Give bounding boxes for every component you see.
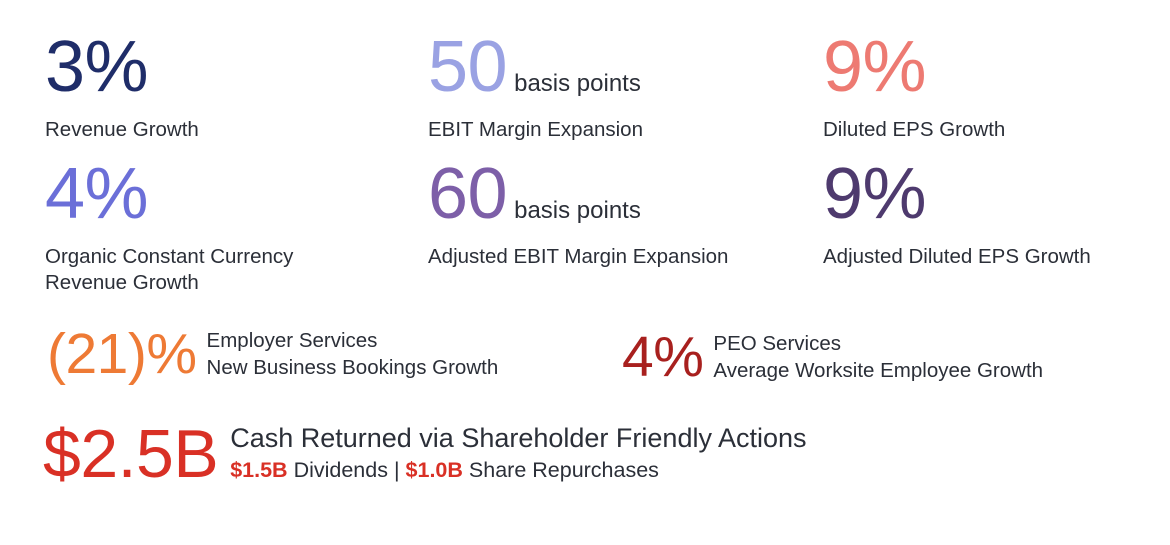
metric-value-row: 9% [823, 33, 1005, 111]
metrics-infographic: 3% Revenue Growth 50 basis points EBIT M… [0, 0, 1170, 545]
metric-label-wrap: Diluted EPS Growth [823, 117, 1005, 143]
metric-value: (21)% [47, 327, 197, 381]
metric-label-wrap: Organic Constant Currency Revenue Growth [45, 244, 293, 296]
metric-employer-services-bookings: (21)% Employer Services New Business Boo… [47, 327, 498, 382]
metric-ebit-margin-expansion: 50 basis points EBIT Margin Expansion [428, 33, 643, 143]
metric-label-line2: Revenue Growth [45, 270, 293, 296]
repurchases-amount: $1.0B [406, 458, 463, 482]
metric-label-wrap: Revenue Growth [45, 117, 199, 143]
metric-label-line1: Adjusted Diluted EPS Growth [823, 244, 1091, 270]
metric-value: 9% [823, 160, 926, 228]
metric-label-line1: Adjusted EBIT Margin Expansion [428, 244, 728, 270]
metric-value: 3% [45, 33, 148, 101]
metric-label-wrap: PEO Services Average Worksite Employee G… [713, 330, 1043, 385]
metric-unit: basis points [514, 70, 641, 98]
metric-label-line1: PEO Services [713, 330, 1043, 357]
metric-value: 4% [622, 330, 703, 384]
metric-label-line1: Diluted EPS Growth [823, 117, 1005, 143]
metric-value: 4% [45, 160, 148, 228]
metric-label-wrap: Employer Services New Business Bookings … [207, 327, 499, 382]
metric-label-line2: New Business Bookings Growth [207, 354, 499, 381]
metric-value-row: 50 basis points [428, 33, 643, 111]
metric-adjusted-ebit-margin-expansion: 60 basis points Adjusted EBIT Margin Exp… [428, 160, 728, 270]
metric-diluted-eps-growth: 9% Diluted EPS Growth [823, 33, 1005, 143]
cash-returned-label-wrap: Cash Returned via Shareholder Friendly A… [230, 423, 806, 485]
metric-revenue-growth: 3% Revenue Growth [45, 33, 199, 143]
metric-label-line1: Organic Constant Currency [45, 244, 293, 270]
dividends-amount: $1.5B [230, 458, 287, 482]
metric-value-row: 60 basis points [428, 160, 728, 238]
metric-label-line2: Average Worksite Employee Growth [713, 357, 1043, 384]
metric-label-line1: EBIT Margin Expansion [428, 117, 643, 143]
metric-cash-returned: $2.5B Cash Returned via Shareholder Frie… [43, 422, 807, 487]
metric-value: 9% [823, 33, 926, 101]
metric-label-wrap: EBIT Margin Expansion [428, 117, 643, 143]
metric-value-row: 9% [823, 160, 1091, 238]
metric-label-wrap: Adjusted Diluted EPS Growth [823, 244, 1091, 270]
dividends-label: Dividends [294, 458, 388, 482]
repurchases-label: Share Repurchases [469, 458, 659, 482]
metric-adjusted-diluted-eps-growth: 9% Adjusted Diluted EPS Growth [823, 160, 1091, 270]
metric-label-line1: Employer Services [207, 327, 499, 354]
cash-returned-headline: Cash Returned via Shareholder Friendly A… [230, 423, 806, 455]
metric-value: 60 [428, 160, 507, 228]
metric-value: 50 [428, 33, 507, 101]
cash-returned-value: $2.5B [43, 422, 218, 487]
metric-peo-worksite-employee-growth: 4% PEO Services Average Worksite Employe… [622, 330, 1043, 385]
metric-unit: basis points [514, 197, 641, 225]
breakdown-separator: | [394, 458, 400, 482]
metric-organic-constant-currency-revenue-growth: 4% Organic Constant Currency Revenue Gro… [45, 160, 293, 296]
metric-value-row: 3% [45, 33, 199, 111]
metric-value-row: 4% [45, 160, 293, 238]
cash-returned-breakdown: $1.5B Dividends | $1.0B Share Repurchase… [230, 457, 806, 485]
metric-label-line1: Revenue Growth [45, 117, 199, 143]
metric-label-wrap: Adjusted EBIT Margin Expansion [428, 244, 728, 270]
